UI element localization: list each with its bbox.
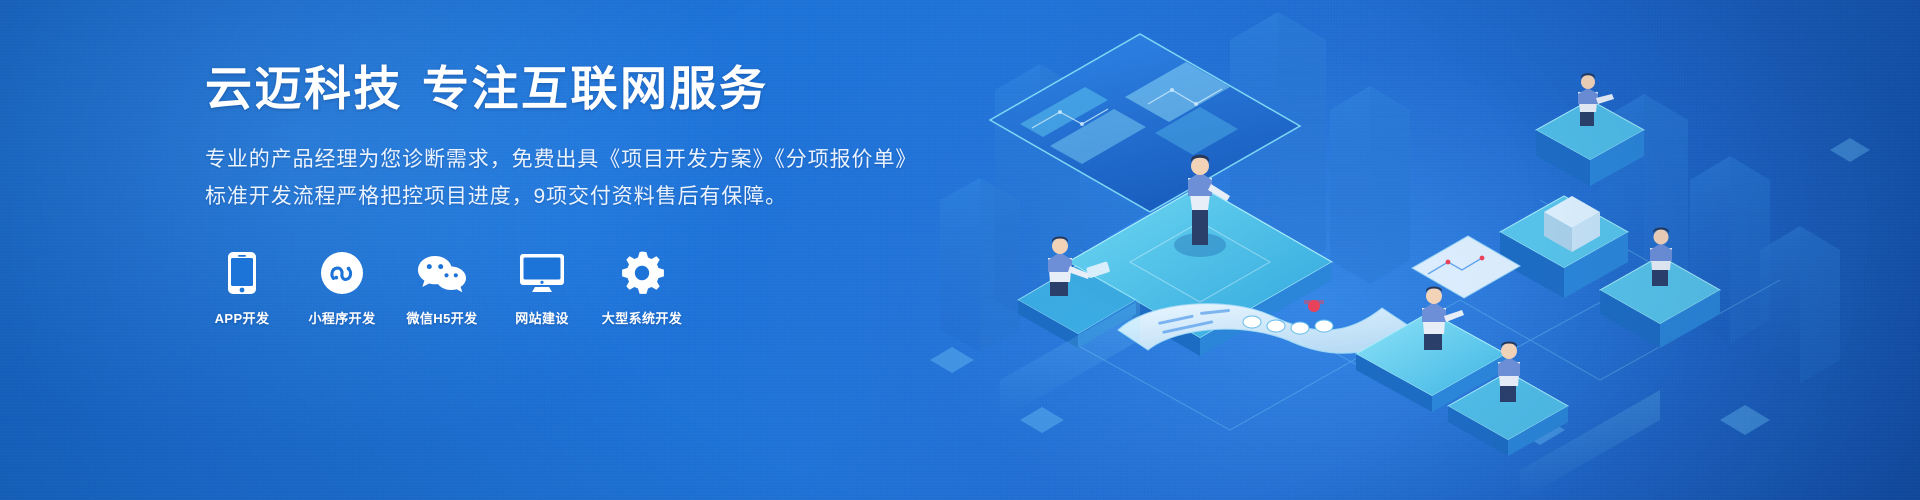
service-label: APP开发 bbox=[215, 308, 270, 327]
hero-banner: 云迈科技专注互联网服务 专业的产品经理为您诊断需求，免费出具《项目开发方案》《分… bbox=[0, 0, 1920, 500]
service-item-large-system[interactable]: 大型系统开发 bbox=[605, 249, 679, 327]
banner-content: 云迈科技专注互联网服务 专业的产品经理为您诊断需求，免费出具《项目开发方案》《分… bbox=[205, 62, 945, 327]
wechat-icon bbox=[417, 249, 467, 297]
service-icon-row: APP开发 小程序开发 bbox=[205, 249, 945, 327]
monitor-icon bbox=[519, 249, 565, 297]
mini-program-icon bbox=[320, 249, 364, 297]
subtitle-line-1: 专业的产品经理为您诊断需求，免费出具《项目开发方案》《分项报价单》 bbox=[205, 142, 945, 179]
headline-tagline: 专注互联网服务 bbox=[422, 62, 769, 115]
mobile-phone-icon bbox=[227, 249, 257, 297]
gear-icon bbox=[620, 249, 664, 297]
isometric-data-platform-illustration bbox=[900, 0, 1920, 500]
service-label: 小程序开发 bbox=[308, 308, 375, 327]
subtitle-line-2: 标准开发流程严格把控项目进度，9项交付资料售后有保障。 bbox=[205, 179, 945, 216]
service-label: 微信H5开发 bbox=[406, 308, 477, 327]
service-item-website[interactable]: 网站建设 bbox=[505, 249, 579, 327]
service-item-wechat-h5[interactable]: 微信H5开发 bbox=[405, 249, 479, 327]
service-item-mini-program[interactable]: 小程序开发 bbox=[305, 249, 379, 327]
page-title: 云迈科技专注互联网服务 bbox=[205, 62, 945, 116]
service-label: 大型系统开发 bbox=[602, 308, 682, 327]
service-item-app[interactable]: APP开发 bbox=[205, 249, 279, 327]
subtitle-block: 专业的产品经理为您诊断需求，免费出具《项目开发方案》《分项报价单》 标准开发流程… bbox=[205, 142, 945, 216]
headline-brand: 云迈科技 bbox=[205, 62, 403, 115]
service-label: 网站建设 bbox=[515, 308, 569, 327]
